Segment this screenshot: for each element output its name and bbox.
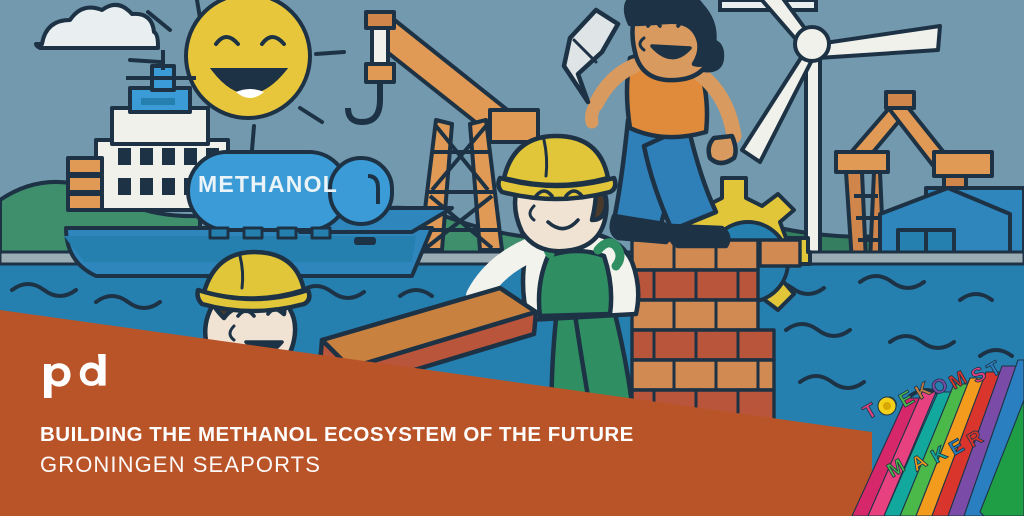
- hero-banner-image: METHANOL: [0, 0, 1024, 516]
- pd-monogram-logo: [42, 354, 108, 398]
- ship-label: METHANOL: [198, 171, 338, 197]
- banner-subtitle: GRONINGEN SEAPORTS: [40, 452, 321, 478]
- toekomst-sun-accent: [878, 397, 896, 415]
- brick-wall: [632, 240, 800, 420]
- banner-title: BUILDING THE METHANOL ECOSYSTEM OF THE F…: [40, 423, 634, 447]
